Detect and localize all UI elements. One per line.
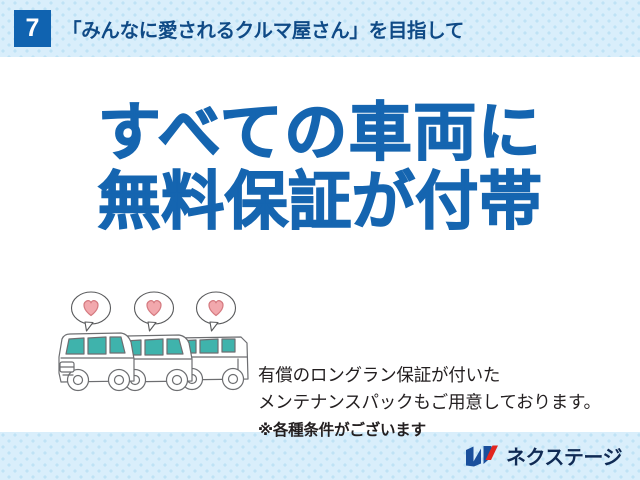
nextage-n-logo-icon [465,444,499,468]
headline-line-2: 無料保証が付帯 [0,167,640,236]
brand-logo: ネクステージ [465,441,622,470]
header-title: 「みんなに愛されるクルマ屋さん」を目指して [62,14,464,43]
body-copy-line-1: 有償のロングラン保証が付いた [258,363,601,390]
advertisement-slide: 7 「みんなに愛されるクルマ屋さん」を目指して すべての車両に 無料保証が付帯 [0,0,640,480]
brand-name: ネクステージ [506,441,622,470]
lower-row: 有償のロングラン保証が付いた メンテナンスパックもご用意しております。 ※各種条… [0,287,640,407]
header-band: 7 「みんなに愛されるクルマ屋さん」を目指して [0,0,640,57]
three-cars-illustration [55,287,255,402]
body-copy-line-2: メンテナンスパックもご用意しております。 [258,390,601,417]
body-copy: 有償のロングラン保証が付いた メンテナンスパックもご用意しております。 ※各種条… [258,363,601,443]
footer-band: ネクステージ [0,432,640,480]
headline: すべての車両に 無料保証が付帯 [0,98,640,237]
section-number-badge: 7 [14,10,51,47]
car-wagon [59,333,134,391]
headline-line-1: すべての車両に [0,98,640,167]
content-card: すべての車両に 無料保証が付帯 [0,57,640,432]
cars-svg [55,287,255,402]
